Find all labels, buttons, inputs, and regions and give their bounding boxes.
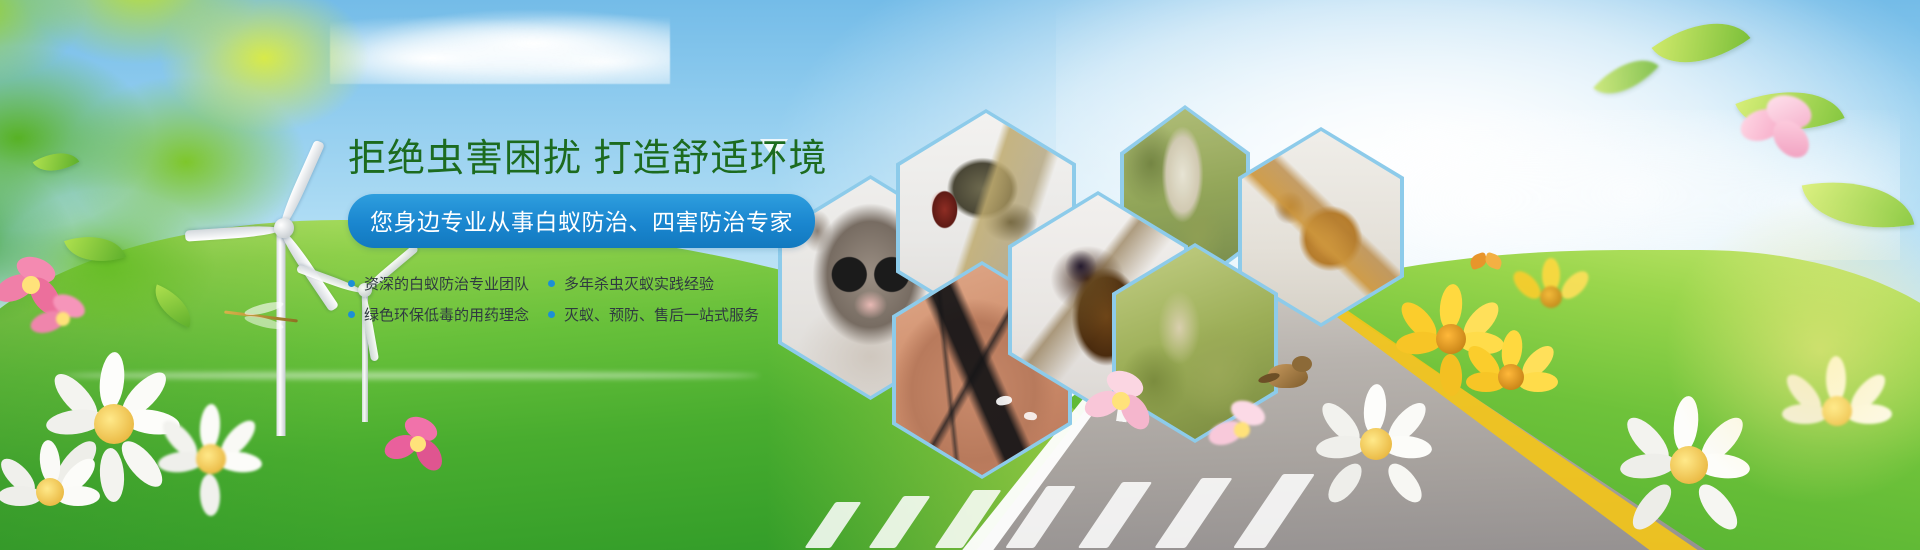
petal bbox=[1626, 478, 1678, 535]
bullet-item: 多年杀虫灭蚁实践经验 bbox=[548, 273, 758, 294]
page-title: 拒绝虫害困扰 打造舒适环境 bbox=[348, 140, 788, 178]
flower-magenta bbox=[382, 414, 460, 488]
flower-core bbox=[1360, 428, 1392, 460]
daisy-white bbox=[1316, 384, 1446, 508]
bullet-label: 绿色环保低毒的用药理念 bbox=[364, 304, 529, 325]
turbine-blade bbox=[185, 224, 282, 242]
bullet-dot-icon bbox=[548, 280, 555, 287]
butterfly-icon bbox=[1470, 252, 1504, 278]
flower-core bbox=[196, 444, 226, 474]
daisy-white bbox=[158, 404, 278, 516]
bullet-dot-icon bbox=[548, 311, 555, 318]
butterfly-wing bbox=[1483, 252, 1503, 271]
banner-copy: 拒绝虫害困扰 打造舒适环境 您身边专业从事白蚁防治、四害防治专家 资深的白蚁防治… bbox=[348, 140, 788, 330]
sparrow-head bbox=[1292, 356, 1312, 372]
blossom-pink bbox=[1080, 366, 1172, 452]
flower-core bbox=[1540, 286, 1562, 308]
flower-core bbox=[1112, 392, 1130, 410]
bullet-label: 资深的白蚁防治专业团队 bbox=[364, 273, 529, 294]
sparrow-icon bbox=[1258, 352, 1320, 402]
petal bbox=[1619, 451, 1678, 482]
flower-core bbox=[56, 312, 70, 326]
blossom-pink bbox=[1206, 398, 1292, 478]
petal bbox=[1382, 458, 1428, 508]
bullet-item: 绿色环保低毒的用药理念 bbox=[348, 304, 548, 325]
bullet-item: 资深的白蚁防治专业团队 bbox=[348, 273, 548, 294]
flower-core bbox=[94, 404, 134, 444]
bullet-item: 灭蚁、预防、售后一站式服务 bbox=[548, 304, 758, 325]
petal bbox=[199, 474, 221, 517]
flower-core bbox=[1436, 324, 1466, 354]
bullet-label: 灭蚁、预防、售后一站式服务 bbox=[564, 304, 759, 325]
white-bird-icon bbox=[1024, 411, 1038, 420]
flower-yellow bbox=[1512, 258, 1596, 338]
petal bbox=[1322, 458, 1368, 508]
flower-core bbox=[1234, 422, 1250, 438]
flower-core bbox=[36, 478, 64, 506]
flower-core bbox=[410, 436, 426, 452]
bullet-dot-icon bbox=[348, 311, 355, 318]
bullet-label: 多年杀虫灭蚁实践经验 bbox=[564, 273, 714, 294]
subhead-pill: 您身边专业从事白蚁防治、四害防治专家 bbox=[348, 194, 815, 248]
bullet-dot-icon bbox=[348, 280, 355, 287]
petal bbox=[97, 351, 127, 411]
dragonfly-icon bbox=[218, 300, 308, 334]
turbine-hub bbox=[274, 218, 294, 238]
petal bbox=[1315, 433, 1367, 460]
feature-bullet-list: 资深的白蚁防治专业团队 多年杀虫灭蚁实践经验 绿色环保低毒的用药理念 灭蚁、预防… bbox=[348, 268, 788, 330]
flower-yellow bbox=[1466, 330, 1566, 426]
flower-core bbox=[1498, 364, 1524, 390]
petal bbox=[1518, 372, 1558, 392]
flower-pink bbox=[30, 292, 100, 356]
daisy-white bbox=[0, 440, 110, 548]
petal bbox=[1557, 267, 1594, 304]
pest-control-banner: 拒绝虫害困扰 打造舒适环境 您身边专业从事白蚁防治、四害防治专家 资深的白蚁防治… bbox=[0, 0, 1920, 550]
